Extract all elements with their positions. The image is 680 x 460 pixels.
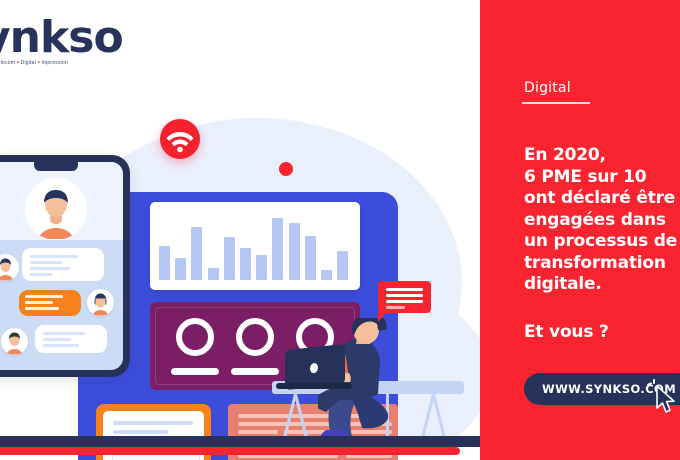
speech-bubble-icon [378, 281, 431, 313]
phone-screen [0, 162, 123, 370]
bar-11 [321, 270, 332, 280]
illustration-panel: ynkso ux ▪ Telecom ▪ Digital ▪ Impressio… [0, 0, 480, 460]
bar-2 [175, 258, 186, 280]
chat-bubble [22, 248, 104, 281]
mouse-cursor-icon [655, 385, 677, 415]
donut-label-bar-2 [231, 368, 279, 375]
tagline-bullet-icon: ▪ [38, 60, 40, 66]
text-line [238, 430, 278, 434]
headline-text: En 2020, 6 PME sur 10 ont déclaré être e… [524, 145, 680, 296]
doc-text-line [113, 421, 193, 425]
bar-9 [289, 223, 300, 280]
laptop-base [276, 383, 352, 389]
content-panel: Digital En 2020, 6 PME sur 10 ont déclar… [480, 0, 680, 460]
avatar [25, 178, 87, 240]
footer-bar-navy [0, 436, 480, 447]
donut-label-bar-1 [171, 368, 219, 375]
speech-bubble-tail [378, 312, 387, 322]
footer-bar-red [0, 447, 460, 455]
tagline-part-3: Digital [21, 60, 36, 66]
category-label: Digital [524, 80, 571, 96]
brand-logo[interactable]: ynkso ux ▪ Telecom ▪ Digital ▪ Impressio… [0, 14, 132, 76]
bar-chart-card [150, 202, 360, 290]
bar-10 [305, 236, 316, 280]
laptop-brand-mark [310, 363, 318, 374]
logo-wordmark: ynkso [0, 14, 132, 62]
phone-header-area [0, 162, 123, 240]
category-underline [522, 102, 590, 104]
text-line [238, 414, 292, 418]
donut-ring-1 [176, 318, 214, 356]
poster-canvas: ynkso ux ▪ Telecom ▪ Digital ▪ Impressio… [0, 0, 680, 460]
bar-6 [240, 248, 251, 280]
chat-bubble-accent [19, 290, 81, 316]
bar-12 [337, 251, 348, 280]
phone-notch [34, 162, 78, 171]
bar-7 [256, 255, 267, 280]
question-text: Et vous ? [524, 322, 609, 342]
bar-5 [224, 237, 235, 280]
logo-tagline: ux ▪ Telecom ▪ Digital ▪ Impression [0, 60, 132, 66]
wifi-icon [160, 119, 200, 159]
avatar [1, 328, 28, 355]
avatar [87, 289, 114, 316]
avatar [0, 254, 19, 281]
decorative-dot [279, 162, 293, 176]
donut-ring-2 [236, 318, 274, 356]
bar-8 [272, 218, 283, 280]
bar-3 [191, 227, 202, 280]
tagline-part-2: Telecom [0, 60, 15, 66]
chat-bubble [35, 325, 107, 353]
smartphone-mockup [0, 155, 130, 377]
bar-4 [208, 268, 219, 280]
bar-1 [159, 246, 170, 280]
tagline-bullet-icon: ▪ [17, 60, 19, 66]
doc-text-line [113, 430, 168, 434]
tagline-part-4: Impression [41, 60, 67, 66]
